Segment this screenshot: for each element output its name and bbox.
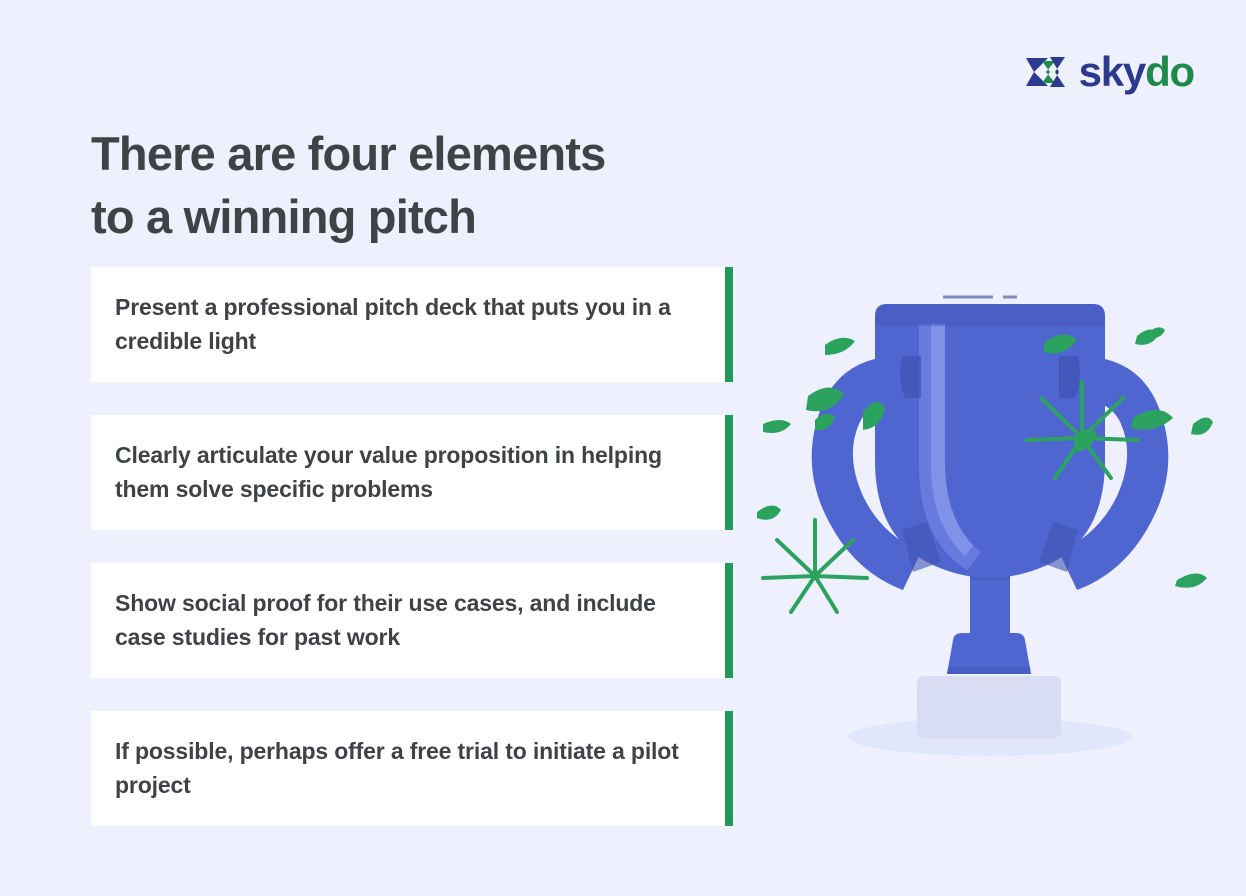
- list-item: If possible, perhaps offer a free trial …: [91, 711, 733, 826]
- list-item-label: If possible, perhaps offer a free trial …: [115, 735, 699, 803]
- list-item: Present a professional pitch deck that p…: [91, 267, 733, 382]
- list-item-body: Present a professional pitch deck that p…: [91, 267, 725, 382]
- list-item-accent-bar: [725, 415, 733, 530]
- list-item: Show social proof for their use cases, a…: [91, 563, 733, 678]
- trophy-illustration: [745, 290, 1235, 770]
- logo-wordmark-do: do: [1145, 48, 1194, 95]
- list-item-body: If possible, perhaps offer a free trial …: [91, 711, 725, 826]
- logo-wordmark: skydo: [1079, 51, 1194, 93]
- skydo-chevron-logo-icon: [1024, 52, 1070, 92]
- trophy-base-icon: [917, 676, 1061, 738]
- list-item: Clearly articulate your value propositio…: [91, 415, 733, 530]
- trophy-joint-left-icon: [900, 356, 921, 398]
- elements-list: Present a professional pitch deck that p…: [91, 267, 733, 826]
- list-item-body: Clearly articulate your value propositio…: [91, 415, 725, 530]
- logo-wordmark-sky: sky: [1079, 48, 1145, 95]
- page-title-line-1: There are four elements: [91, 123, 711, 186]
- list-item-accent-bar: [725, 267, 733, 382]
- list-item-label: Clearly articulate your value propositio…: [115, 439, 699, 507]
- trophy-joint-right-icon: [1059, 356, 1080, 398]
- list-item-label: Show social proof for their use cases, a…: [115, 587, 699, 655]
- list-item-body: Show social proof for their use cases, a…: [91, 563, 725, 678]
- trophy-rim-icon: [875, 304, 1105, 326]
- page-title: There are four elements to a winning pit…: [91, 123, 711, 249]
- skydo-logo: skydo: [1024, 48, 1194, 96]
- slide-canvas: skydo There are four elements to a winni…: [0, 0, 1246, 896]
- list-item-label: Present a professional pitch deck that p…: [115, 291, 699, 359]
- list-item-accent-bar: [725, 563, 733, 678]
- page-title-line-2: to a winning pitch: [91, 186, 711, 249]
- list-item-accent-bar: [725, 711, 733, 826]
